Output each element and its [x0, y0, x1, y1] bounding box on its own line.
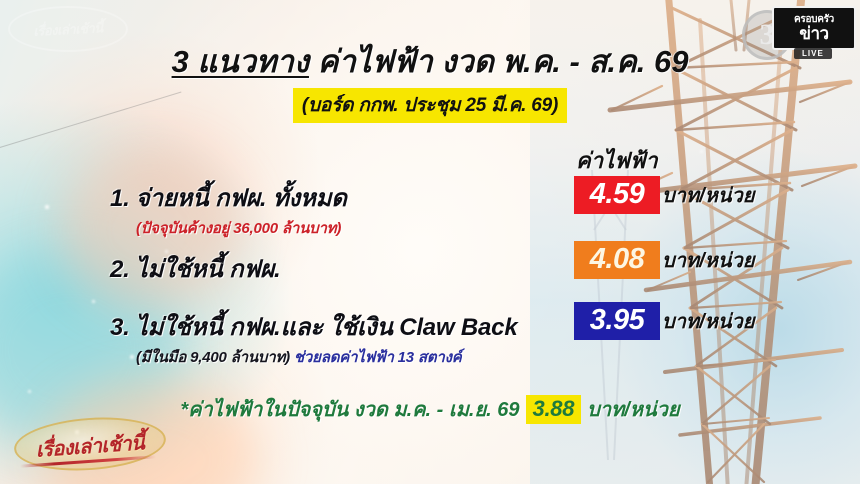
subtitle-highlight: (บอร์ด กกพ. ประชุม 25 มี.ค. 69)	[293, 88, 567, 123]
rate-badge-1: 4.59	[574, 176, 660, 214]
option-number: 1.	[110, 185, 130, 212]
channel-box-top-label: ครอบครัว	[794, 15, 834, 25]
rate-row: 3.95 บาท/หน่วย	[574, 302, 754, 340]
option-item: 2.ไม่ใช้หนี้ กฟผ.	[110, 249, 580, 288]
rate-unit-1: บาท/หน่วย	[662, 179, 754, 211]
option-subnote-primary: (ปัจจุบันค้างอยู่ 36,000 ล้านบาท)	[136, 220, 341, 237]
option-title: จ่ายหนี้ กฟผ. ทั้งหมด	[136, 185, 347, 212]
show-logo: เรื่องเล่าเช้านี้	[6, 410, 171, 480]
headline-rest: ค่าไฟฟ้า งวด พ.ค. - ส.ค. 69	[309, 44, 688, 79]
rate-badge-3: 3.95	[574, 302, 660, 340]
sparkle-1	[45, 205, 49, 209]
option-title-row: 2.ไม่ใช้หนี้ กฟผ.	[110, 249, 580, 288]
option-number: 3.	[110, 314, 130, 341]
rate-row: 4.08 บาท/หน่วย	[574, 241, 754, 279]
rate-column-header: ค่าไฟฟ้า	[576, 143, 658, 178]
rate-row: 4.59 บาท/หน่วย	[574, 176, 754, 214]
option-subnote-secondary: ช่วยลดค่าไฟฟ้า 13 สตางค์	[294, 349, 462, 366]
headline-block: 3 แนวทาง ค่าไฟฟ้า งวด พ.ค. - ส.ค. 69	[0, 36, 860, 86]
headline-text: 3 แนวทาง ค่าไฟฟ้า งวด พ.ค. - ส.ค. 69	[172, 36, 689, 86]
option-title-row: 3.ไม่ใช้หนี้ กฟผ.และ ใช้เงิน Claw Back	[110, 307, 580, 346]
option-title: ไม่ใช้หนี้ กฟผ.	[136, 256, 281, 283]
footer-prefix: *ค่าไฟฟ้าในปัจจุบัน งวด ม.ค. - เม.ย. 69	[180, 393, 519, 425]
option-item: 1.จ่ายหนี้ กฟผ. ทั้งหมด (ปัจจุบันค้างอยู…	[110, 178, 580, 240]
footer-unit: บาท/หน่วย	[587, 393, 679, 425]
option-item: 3.ไม่ใช้หนี้ กฟผ.และ ใช้เงิน Claw Back (…	[110, 307, 580, 369]
subtitle-block: (บอร์ด กกพ. ประชุม 25 มี.ค. 69)	[0, 88, 860, 123]
option-title: ไม่ใช้หนี้ กฟผ.และ ใช้เงิน Claw Back	[136, 314, 518, 341]
option-number: 2.	[110, 256, 130, 283]
broadcast-graphic: เรื่องเล่าเช้านี้ ครอบครัว ข่าว LIVE 3 แ…	[0, 0, 860, 484]
footer-inner: *ค่าไฟฟ้าในปัจจุบัน งวด ม.ค. - เม.ย. 69 …	[180, 393, 679, 425]
option-subnote: (มีในมือ 9,400 ล้านบาท) ช่วยลดค่าไฟฟ้า 1…	[136, 345, 580, 369]
footer-current-rate: 3.88	[526, 395, 582, 424]
option-subnote-primary: (มีในมือ 9,400 ล้านบาท)	[136, 349, 290, 366]
rate-unit-2: บาท/หน่วย	[662, 244, 754, 276]
headline-underlined-part: 3 แนวทาง	[172, 44, 309, 79]
rate-unit-3: บาท/หน่วย	[662, 305, 754, 337]
sparkle-2	[92, 300, 95, 303]
option-title-row: 1.จ่ายหนี้ กฟผ. ทั้งหมด	[110, 178, 580, 217]
rate-badge-2: 4.08	[574, 241, 660, 279]
option-subnote: (ปัจจุบันค้างอยู่ 36,000 ล้านบาท)	[136, 216, 580, 240]
